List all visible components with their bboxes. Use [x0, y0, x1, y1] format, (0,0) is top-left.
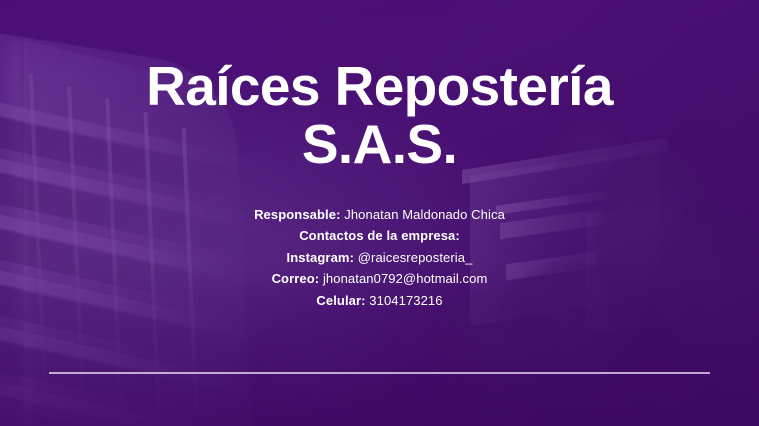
contact-block: Responsable: Jhonatan Maldonado Chica Co…: [0, 204, 759, 312]
responsible-line: Responsable: Jhonatan Maldonado Chica: [0, 204, 759, 226]
instagram-label: Instagram:: [287, 250, 354, 265]
phone-line: Celular: 3104173216: [0, 290, 759, 312]
email-line: Correo: jhonatan0792@hotmail.com: [0, 268, 759, 290]
email-value: jhonatan0792@hotmail.com: [323, 271, 487, 286]
horizontal-rule: [49, 372, 710, 374]
slide-title-line-2: S.A.S.: [302, 113, 457, 175]
phone-value: 3104173216: [369, 293, 442, 308]
slide-content: Raíces Repostería S.A.S. Responsable: Jh…: [0, 0, 759, 426]
responsible-value: Jhonatan Maldonado Chica: [344, 207, 505, 222]
phone-label: Celular:: [316, 293, 365, 308]
instagram-line: Instagram: @raicesreposteria_: [0, 247, 759, 269]
instagram-value: @raicesreposteria_: [358, 250, 473, 265]
responsible-label: Responsable:: [254, 207, 340, 222]
email-label: Correo:: [272, 271, 320, 286]
title-slide: Raíces Repostería S.A.S. Responsable: Jh…: [0, 0, 759, 426]
slide-title-line-1: Raíces Repostería: [146, 55, 613, 117]
contacts-heading: Contactos de la empresa:: [0, 225, 759, 247]
slide-title: Raíces Repostería S.A.S.: [0, 57, 759, 174]
